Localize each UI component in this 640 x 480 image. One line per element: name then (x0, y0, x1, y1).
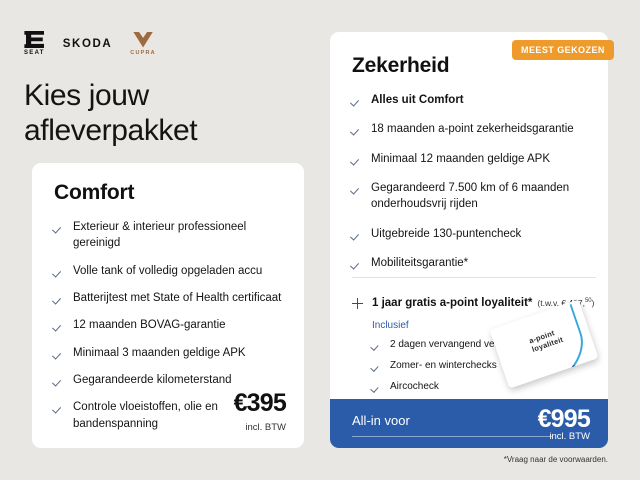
included-text: Aircocheck (390, 380, 439, 394)
divider (352, 436, 552, 437)
bonus-label: 1 jaar gratis a-point loyaliteit* (372, 297, 532, 309)
comfort-title: Comfort (54, 181, 134, 205)
package-card-comfort[interactable]: Comfort Exterieur & interieur profession… (32, 163, 304, 448)
feature-text: 18 maanden a-point zekerheidsgarantie (371, 121, 574, 137)
list-item: Mobiliteitsgarantie* (352, 255, 596, 271)
list-item: Gegarandeerd 7.500 km of 6 maanden onder… (352, 180, 596, 213)
skoda-logo-icon: SKODA (63, 38, 113, 50)
check-icon (352, 259, 362, 269)
list-item: Gegarandeerde kilometerstand (54, 372, 290, 388)
zekerheid-price: €995 (538, 405, 590, 434)
feature-text: Minimaal 3 maanden geldige APK (73, 345, 246, 361)
footnote: *Vraag naar de voorwaarden. (504, 455, 608, 464)
check-icon (372, 341, 381, 350)
comfort-price: €395 (234, 389, 286, 418)
check-icon (54, 403, 64, 413)
seat-emblem-icon (24, 31, 44, 48)
check-icon (372, 383, 381, 392)
included-text: Zomer- en winterchecks (390, 359, 497, 373)
check-icon (352, 230, 362, 240)
check-icon (54, 321, 64, 331)
list-item: Volle tank of volledig opgeladen accu (54, 263, 290, 279)
check-icon (54, 349, 64, 359)
list-item: Aircocheck (372, 380, 572, 394)
brand-logo-row: SEAT SKODA CUPRA (24, 31, 156, 56)
cupra-emblem-icon (133, 32, 153, 48)
package-card-zekerheid[interactable]: MEEST GEKOZEN Zekerheid Alles uit Comfor… (330, 32, 608, 448)
feature-text: Exterieur & interieur professioneel gere… (73, 219, 290, 252)
promo-page: SEAT SKODA CUPRA Kies jouw afleverpakket… (0, 0, 640, 480)
divider (352, 277, 596, 278)
check-icon (352, 155, 362, 165)
list-item: Exterieur & interieur professioneel gere… (54, 219, 290, 252)
plus-icon (352, 298, 363, 309)
feature-text: Volle tank of volledig opgeladen accu (73, 263, 262, 279)
list-item: 12 maanden BOVAG-garantie (54, 317, 290, 333)
list-item: Alles uit Comfort (352, 92, 596, 108)
check-icon (54, 294, 64, 304)
feature-text: Minimaal 12 maanden geldige APK (371, 151, 550, 167)
feature-text: Alles uit Comfort (371, 92, 464, 108)
feature-text: Gegarandeerd 7.500 km of 6 maanden onder… (371, 180, 596, 213)
check-icon (54, 267, 64, 277)
page-title: Kies jouw afleverpakket (24, 78, 314, 148)
bonus-value-cents: 50 (585, 298, 592, 304)
check-icon (352, 125, 362, 135)
feature-text: Uitgebreide 130-puntencheck (371, 226, 521, 242)
seat-wordmark: SEAT (24, 50, 45, 56)
zekerheid-feature-list: Alles uit Comfort 18 maanden a-point zek… (352, 92, 596, 284)
bonus-value-suffix: ) (592, 298, 595, 308)
zekerheid-price-bar: All-in voor €995 incl. BTW (330, 399, 608, 448)
check-icon (352, 184, 362, 194)
check-icon (54, 223, 64, 233)
seat-logo-icon: SEAT (24, 31, 45, 56)
allin-label: All-in voor (352, 413, 410, 428)
check-icon (352, 96, 362, 106)
list-item: Batterijtest met State of Health certifi… (54, 290, 290, 306)
list-item: Minimaal 3 maanden geldige APK (54, 345, 290, 361)
zekerheid-title: Zekerheid (352, 54, 449, 78)
list-item: 18 maanden a-point zekerheidsgarantie (352, 121, 596, 137)
status-badge: MEEST GEKOZEN (512, 40, 614, 60)
check-icon (54, 376, 64, 386)
feature-text: Batterijtest met State of Health certifi… (73, 290, 281, 306)
check-icon (372, 362, 381, 371)
cupra-wordmark: CUPRA (130, 50, 156, 56)
feature-text: Mobiliteitsgarantie* (371, 255, 468, 271)
feature-text: 12 maanden BOVAG-garantie (73, 317, 226, 333)
zekerheid-vat-note: incl. BTW (549, 431, 590, 442)
cupra-logo-icon: CUPRA (130, 32, 156, 56)
list-item: Uitgebreide 130-puntencheck (352, 226, 596, 242)
comfort-vat-note: incl. BTW (245, 422, 286, 433)
list-item: Minimaal 12 maanden geldige APK (352, 151, 596, 167)
feature-text: Gegarandeerde kilometerstand (73, 372, 232, 388)
